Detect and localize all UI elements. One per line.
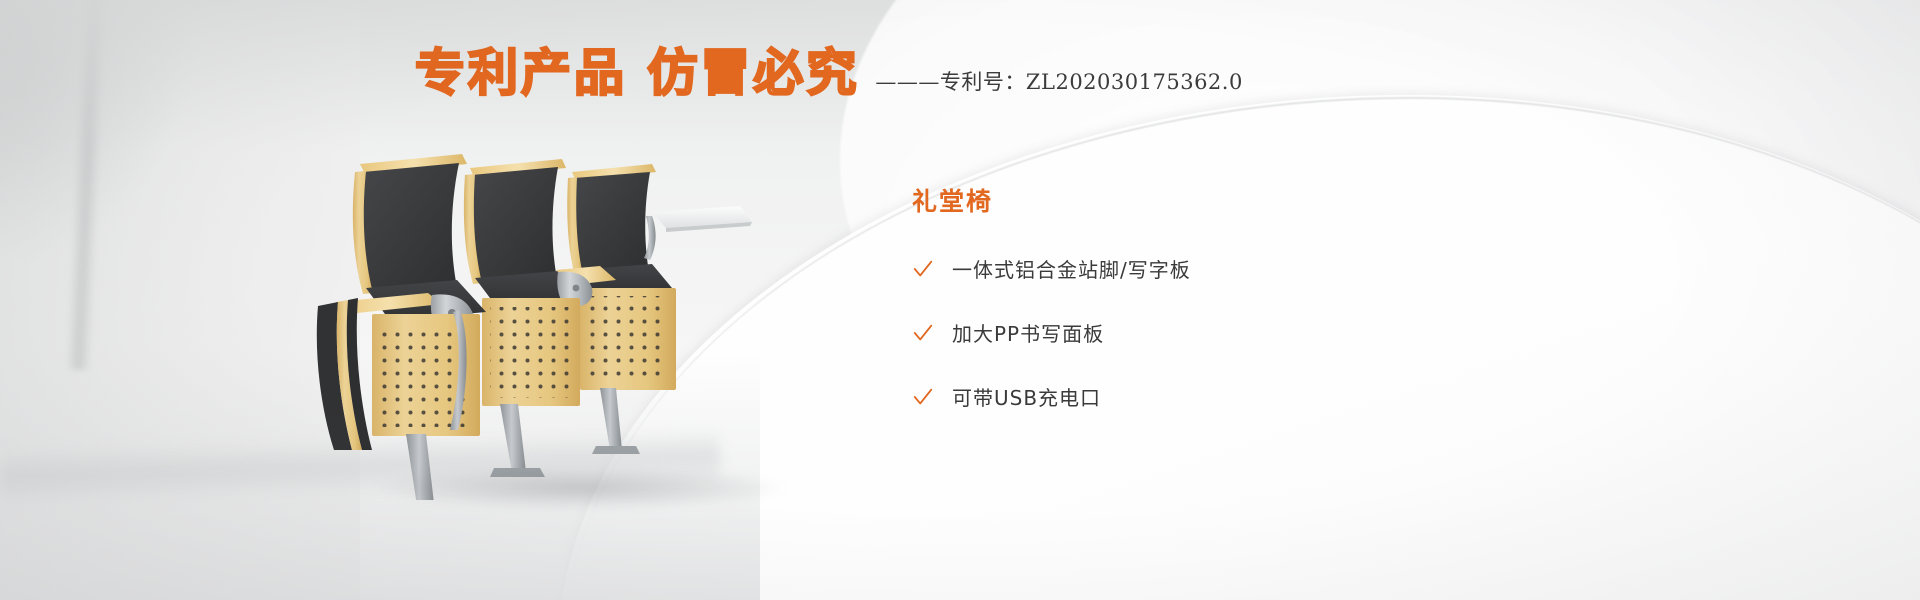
- features-panel: 礼堂椅 一体式铝合金站脚/写字板 加大PP书写面板 可带USB充电口: [912, 182, 1432, 411]
- feature-item: 加大PP书写面板: [912, 318, 1432, 347]
- product-ground-shadow: [370, 466, 790, 510]
- check-icon: [912, 258, 934, 280]
- page-title: 专利产品 仿冒必究: [415, 48, 859, 98]
- check-icon: [912, 386, 934, 408]
- headline-block: 专利产品 仿冒必究 ———专利号：ZL202030175362.0: [415, 48, 1243, 98]
- feature-item: 可带USB充电口: [912, 382, 1432, 411]
- chair-3: [567, 164, 676, 454]
- feature-label: 一体式铝合金站脚/写字板: [952, 254, 1191, 283]
- auditorium-chairs-illustration: [300, 120, 820, 500]
- product-image: [300, 120, 820, 500]
- check-icon: [912, 322, 934, 344]
- feature-list: 一体式铝合金站脚/写字板 加大PP书写面板 可带USB充电口: [912, 254, 1432, 411]
- writing-tablet: [644, 206, 752, 260]
- chair-1: [317, 154, 486, 500]
- features-title: 礼堂椅: [912, 182, 1432, 218]
- feature-item: 一体式铝合金站脚/写字板: [912, 254, 1432, 283]
- feature-label: 加大PP书写面板: [952, 318, 1104, 347]
- feature-label: 可带USB充电口: [952, 382, 1101, 411]
- patent-number: ———专利号：ZL202030175362.0: [875, 72, 1242, 98]
- product-banner: 专利产品 仿冒必究 ———专利号：ZL202030175362.0: [0, 0, 1920, 600]
